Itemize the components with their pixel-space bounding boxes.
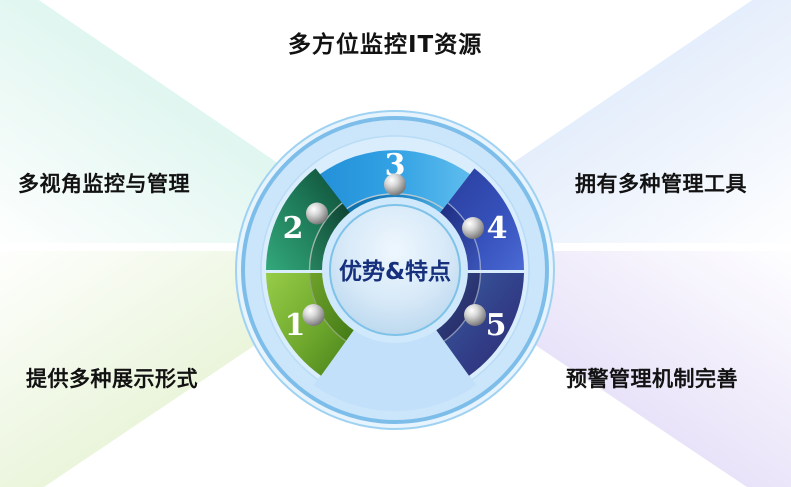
segment-3-marker-icon bbox=[384, 174, 406, 196]
segment-5-number: 5 bbox=[486, 308, 507, 343]
label-right-middle: 拥有多种管理工具 bbox=[575, 168, 747, 198]
infographic-canvas: 3 2 1 4 bbox=[0, 0, 791, 487]
segment-4-number: 4 bbox=[487, 211, 508, 246]
label-left-middle: 多视角监控与管理 bbox=[18, 168, 190, 198]
segment-1-marker-icon bbox=[303, 304, 325, 326]
segment-1-number: 1 bbox=[285, 308, 306, 343]
segment-2-number: 2 bbox=[283, 211, 304, 246]
segment-2-marker-icon bbox=[306, 203, 328, 225]
label-right-bottom: 预警管理机制完善 bbox=[566, 363, 738, 393]
label-top: 多方位监控IT资源 bbox=[288, 25, 482, 59]
center-label: 优势&特点 bbox=[339, 259, 451, 285]
segment-5-marker-icon bbox=[464, 304, 486, 326]
segment-4-marker-icon bbox=[462, 217, 484, 239]
label-left-bottom: 提供多种展示形式 bbox=[26, 363, 198, 393]
donut-wheel: 3 2 1 4 bbox=[0, 0, 791, 487]
